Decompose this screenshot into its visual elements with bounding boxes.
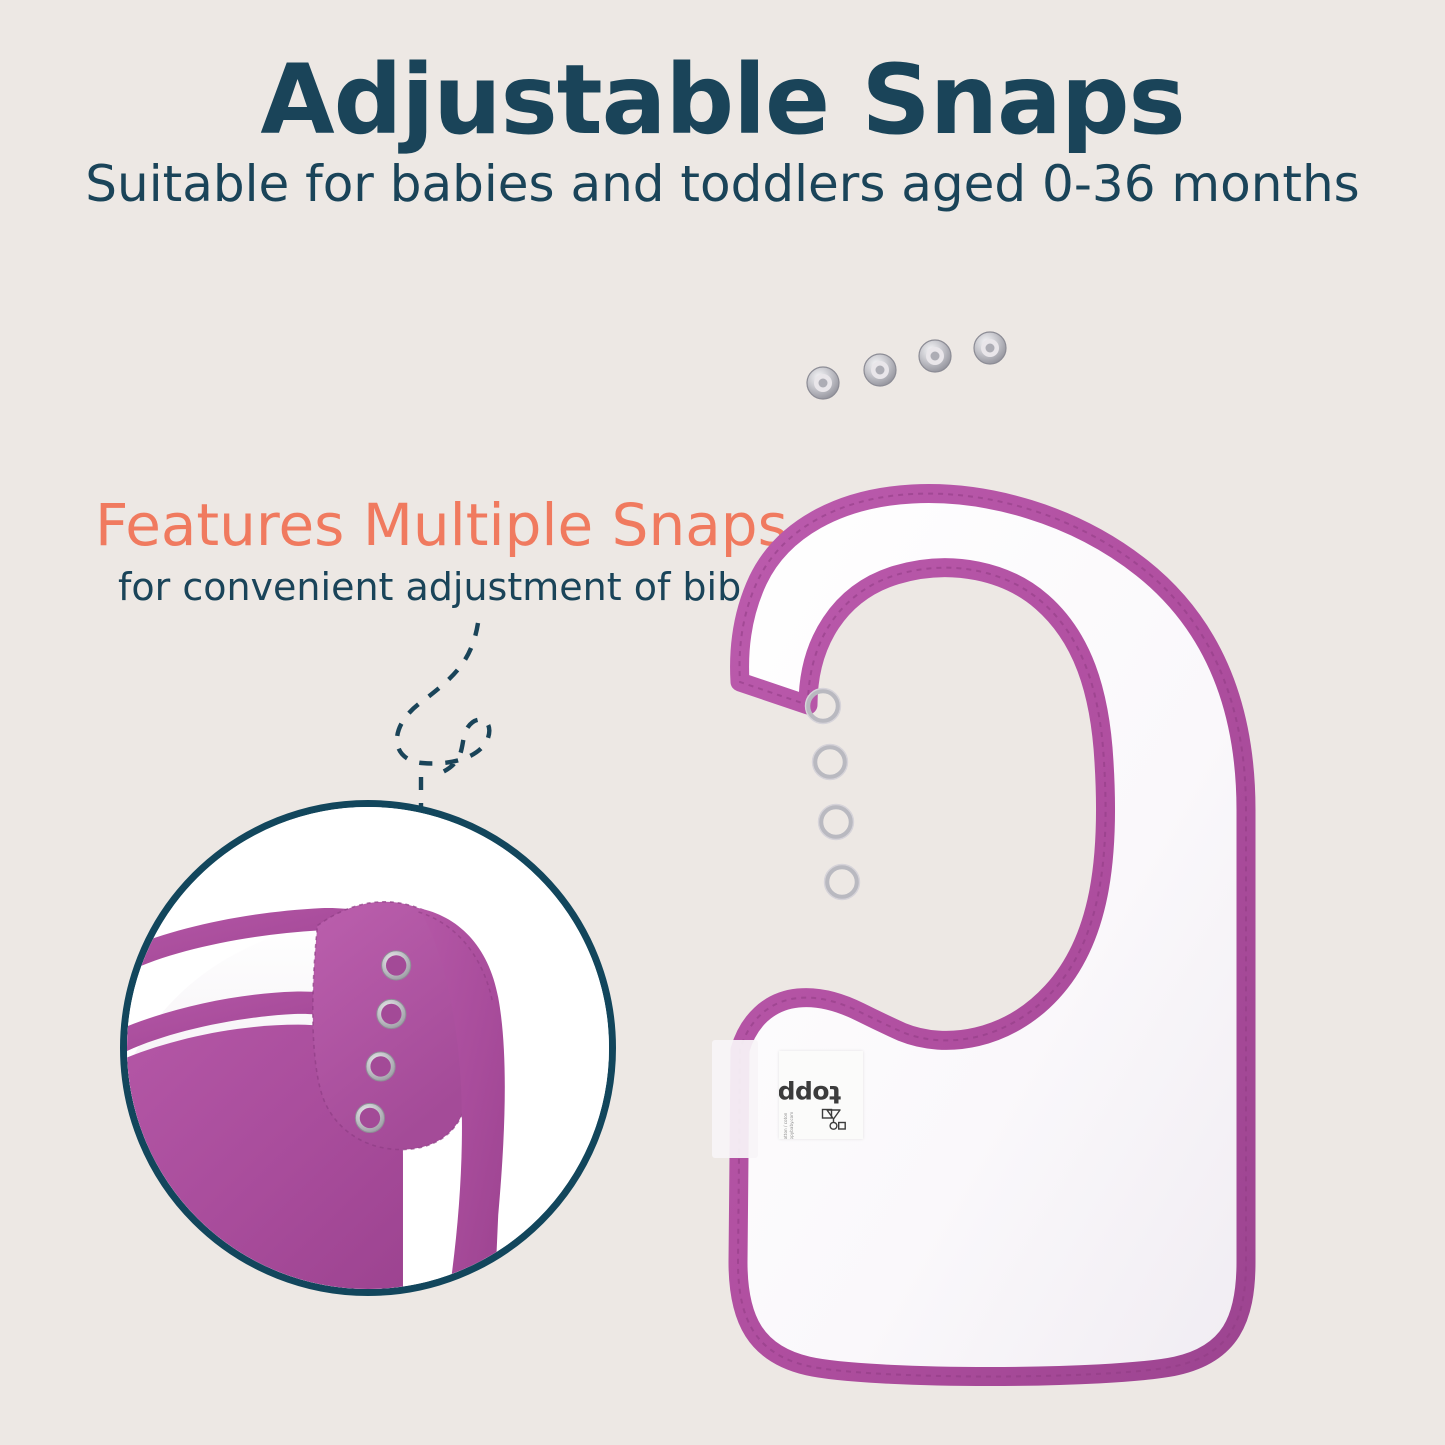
page-subtitle: Suitable for babies and toddlers aged 0-… xyxy=(0,158,1445,211)
strap-snap-2 xyxy=(864,354,896,386)
body-snap-group xyxy=(806,689,860,900)
baby-bib-product xyxy=(690,250,1350,1440)
arrow-path xyxy=(397,623,489,775)
body-snap-3 xyxy=(819,805,854,840)
inset-snap-1 xyxy=(382,951,411,980)
strap-snap-4 xyxy=(974,332,1006,364)
bib-fabric-loop xyxy=(712,1040,758,1158)
strap-snap-3 xyxy=(919,340,951,372)
toppy-logo-icon xyxy=(820,1108,846,1130)
snap-closeup-photo xyxy=(127,807,609,1289)
page-title: Adjustable Snaps xyxy=(0,52,1445,148)
tag-fineprint-3: USA xyxy=(796,1125,802,1139)
inset-snap-4 xyxy=(355,1103,384,1132)
bib-outline xyxy=(738,494,1246,1377)
inset-snap-3 xyxy=(366,1052,395,1081)
inset-snap-2 xyxy=(377,999,406,1028)
strap-snap-group xyxy=(807,332,1006,399)
snap-closeup-circle xyxy=(120,800,616,1296)
brand-name: toppy xyxy=(779,1080,841,1109)
product-infographic: Adjustable Snaps Suitable for babies and… xyxy=(0,0,1445,1445)
body-snap-2 xyxy=(813,745,848,780)
strap-snap-1 xyxy=(807,367,839,399)
tag-fineprint-2: www.toppybaby.com xyxy=(789,1125,795,1139)
body-snap-4 xyxy=(825,865,860,900)
brand-tag: toppy 100% cotton / coton www.toppybaby.… xyxy=(779,1051,863,1139)
